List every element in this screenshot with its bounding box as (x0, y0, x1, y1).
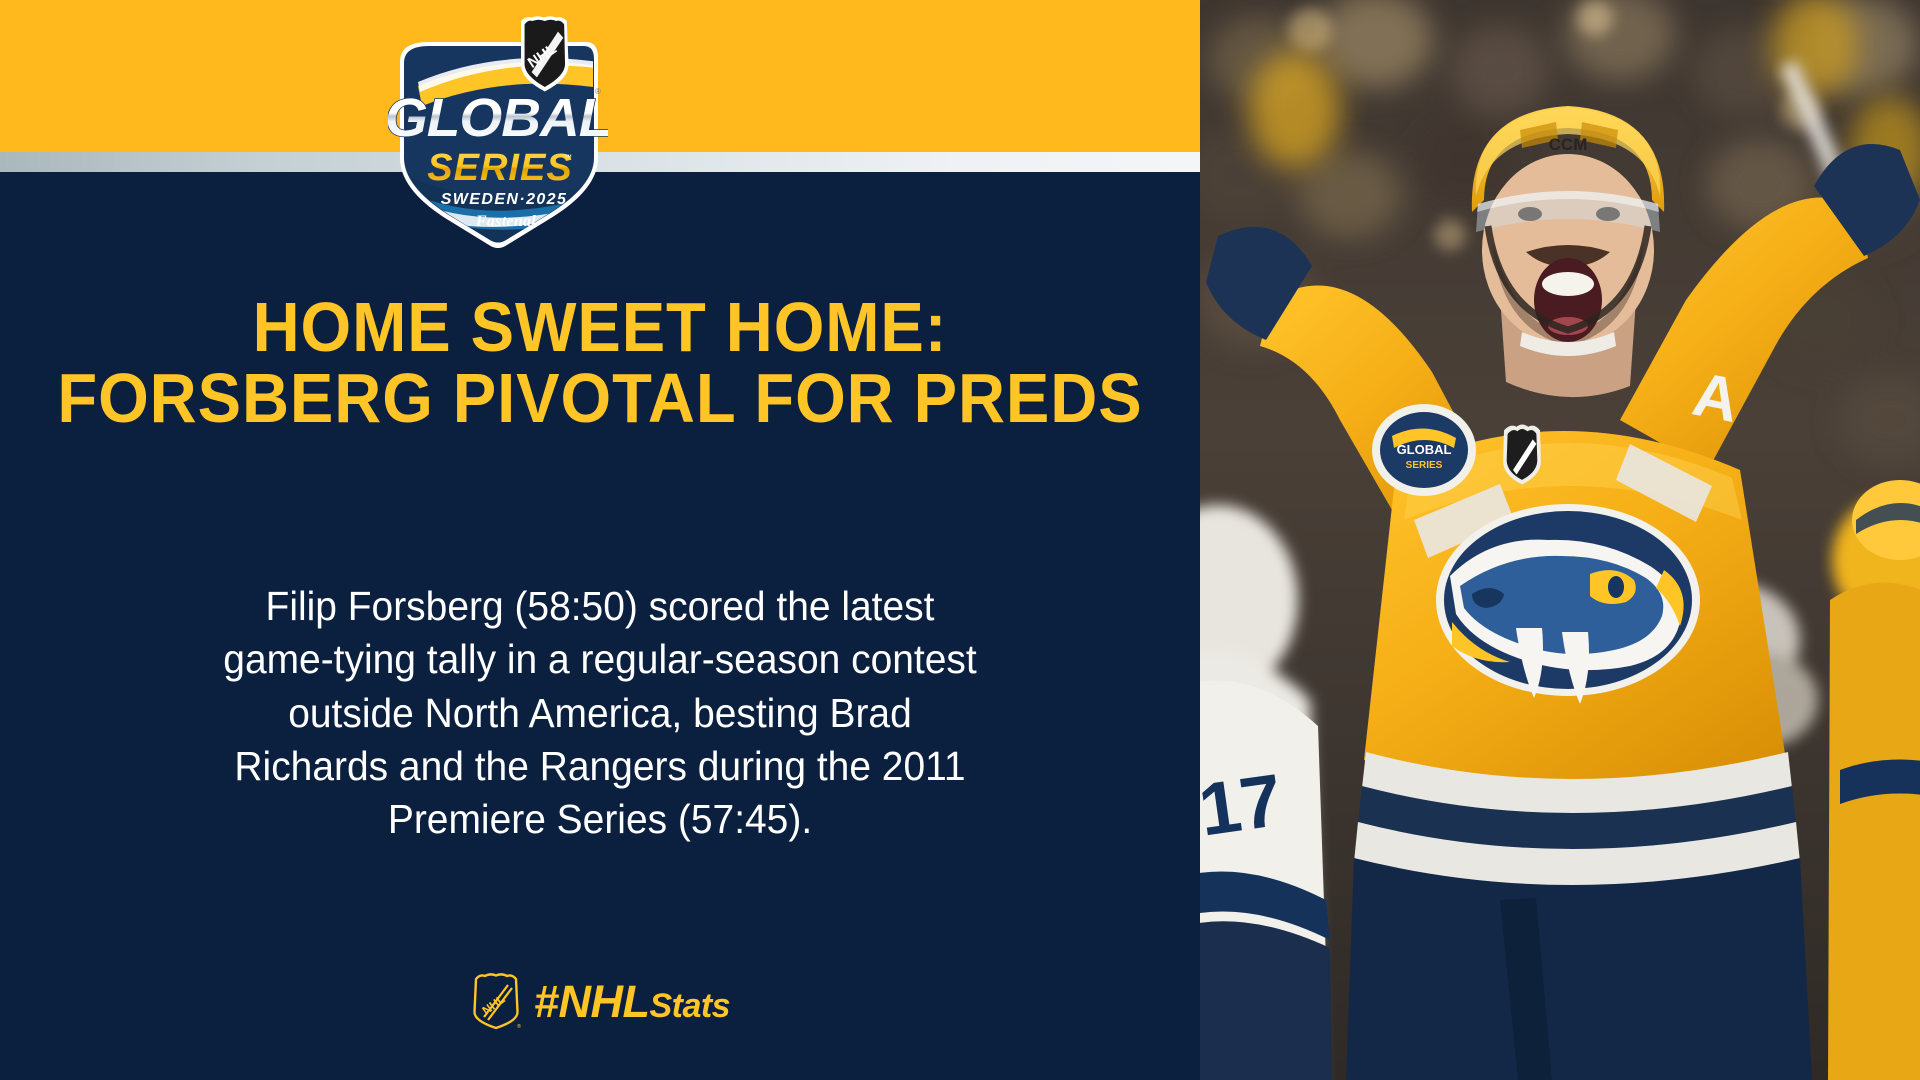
logo-trademark-mark: ™ (564, 153, 572, 162)
logo-word-series: SERIES (427, 147, 572, 189)
hashtag-suffix: Stats (649, 989, 730, 1023)
logo-location-year: SWEDEN·2025 (441, 191, 568, 208)
svg-text:®: ® (517, 1023, 521, 1030)
left-content-panel: NHL ® GLOBAL SERIES ™ SWEDEN·2025 Fasten… (0, 0, 1200, 1080)
logo-sponsor-fastenal: Fastenal (475, 213, 536, 230)
nhlstats-lockup: NHL ® #NHL Stats (0, 972, 1200, 1030)
jersey-patch-global: GLOBAL (1397, 442, 1452, 457)
hashtag-main: #NHL (534, 979, 650, 1024)
body-line-4: Richards and the Rangers during the 2011 (125, 740, 1075, 793)
forsberg-celebration-photo: 17 (1200, 0, 1920, 1080)
helmet-brand-decal: CCM (1549, 135, 1588, 154)
jersey-patch-series: SERIES (1406, 460, 1443, 471)
body-copy: Filip Forsberg (58:50) scored the latest… (125, 580, 1075, 846)
graphic-canvas: NHL ® GLOBAL SERIES ™ SWEDEN·2025 Fasten… (0, 0, 1920, 1080)
headline-line-1: HOME SWEET HOME: (42, 292, 1158, 363)
nhl-shield-icon: NHL ® (470, 972, 522, 1030)
body-line-2: game-tying tally in a regular-season con… (125, 633, 1075, 686)
nhlstats-hashtag: #NHL Stats (534, 979, 730, 1024)
nhl-global-series-logo: NHL ® GLOBAL SERIES ™ SWEDEN·2025 Fasten… (388, 8, 608, 258)
headline-line-2: FORSBERG PIVOTAL FOR PREDS (42, 363, 1158, 434)
body-line-3: outside North America, besting Brad (125, 687, 1075, 740)
body-line-1: Filip Forsberg (58:50) scored the latest (125, 580, 1075, 633)
body-line-5: Premiere Series (57:45). (125, 793, 1075, 846)
logo-word-global: GLOBAL (388, 87, 608, 147)
teammate-jersey-number: 17 (1200, 758, 1287, 852)
page-title: HOME SWEET HOME: FORSBERG PIVOTAL FOR PR… (42, 292, 1158, 435)
